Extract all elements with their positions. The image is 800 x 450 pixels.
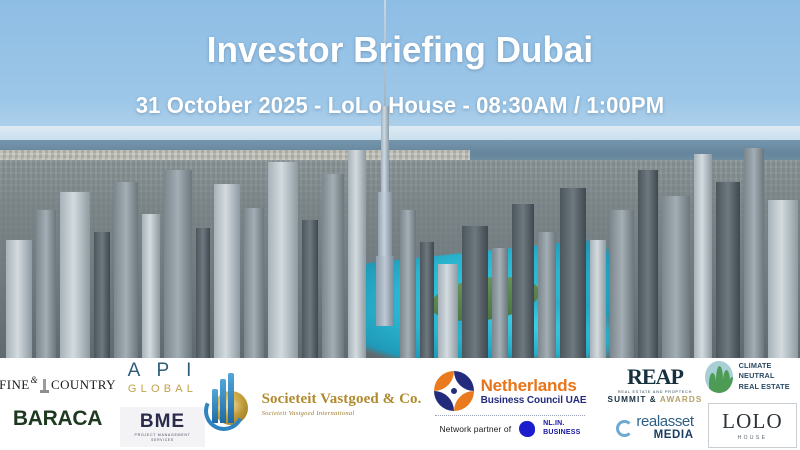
sponsor-column-2: A P I GLOBAL BME PROJECT MANAGEMENT SERV…: [115, 358, 210, 450]
logo-bme[interactable]: BME PROJECT MANAGEMENT SERVICES: [120, 407, 204, 447]
tower: [36, 210, 56, 360]
tower: [462, 226, 488, 360]
tower: [94, 232, 110, 360]
event-details: 31 October 2025 - LoLo House - 08:30AM /…: [16, 92, 784, 119]
baraca-wordmark: BARACA: [13, 407, 102, 431]
nlin-line-1: NL.IN.: [543, 420, 580, 428]
bme-tagline-2: SERVICES: [134, 439, 190, 442]
tower: [142, 214, 160, 360]
tower: [744, 148, 764, 360]
sponsor-column-6: CLIMATE NEUTRAL REAL ESTATE LOLO HOUSE: [705, 358, 800, 450]
dubai-skyline-photo: Investor Briefing Dubai 31 October 2025 …: [0, 0, 800, 360]
tower: [610, 210, 634, 360]
logo-societeit-vastgoed[interactable]: Societeit Vastgoed & Co. Societeit Vastg…: [204, 375, 422, 433]
tower: [560, 188, 586, 360]
tower: [6, 240, 32, 360]
tower: [322, 174, 344, 360]
lolo-text: LOLO: [722, 411, 783, 432]
tower: [348, 150, 366, 360]
tower: [302, 220, 318, 360]
pinwheel-icon: [434, 371, 474, 411]
tower: [214, 184, 240, 360]
sponsor-column-5: REAP REAL ESTATE AND PROPTECH SUMMIT & A…: [605, 358, 705, 450]
bme-text: BME: [134, 412, 190, 431]
nbc-line-2: Business Council UAE: [481, 396, 587, 406]
api-text: A P I: [128, 361, 198, 380]
reap-tagline: REAL ESTATE AND PROPTECH: [608, 390, 703, 394]
tower: [716, 182, 740, 360]
societeit-text: Societeit Vastgoed & Co. Societeit Vastg…: [262, 391, 422, 417]
leaf-blade: [729, 377, 733, 393]
api-global-wordmark: A P I GLOBAL: [128, 361, 198, 395]
leaf-blade: [716, 366, 723, 393]
climate-neutral-lockup: CLIMATE NEUTRAL REAL ESTATE: [705, 361, 800, 393]
bme-tagline-1: PROJECT MANAGEMENT: [134, 434, 190, 438]
logo-realasset-media[interactable]: realasset MEDIA: [616, 414, 693, 442]
tower: [268, 162, 298, 360]
nlin-blob-icon: [519, 421, 535, 437]
tower: [590, 240, 606, 360]
tower: [438, 264, 458, 360]
nlin-line-2: BUSINESS: [543, 429, 580, 437]
cnre-line-2: REAL ESTATE: [739, 382, 800, 393]
country-word: COUNTRY: [51, 377, 116, 393]
nbc-partner-lockup: Network partner of NL.IN. BUSINESS: [439, 420, 580, 436]
leaf-globe-icon: [705, 361, 733, 393]
tower: [196, 228, 210, 360]
media-text: MEDIA: [636, 430, 693, 442]
sponsor-column-4: Netherlands Business Council UAE Network…: [415, 358, 605, 450]
tower: [114, 182, 138, 360]
fine-word: FINE: [0, 377, 30, 393]
network-partner-label: Network partner of: [439, 424, 511, 434]
event-banner: Investor Briefing Dubai 31 October 2025 …: [0, 0, 800, 450]
tower: [164, 170, 192, 360]
nbc-wordmark: Netherlands Business Council UAE: [481, 377, 587, 406]
logo-fine-and-country[interactable]: FINE & COUNTRY: [0, 377, 116, 393]
reap-text: REAP: [608, 366, 703, 388]
nbc-line-1: Netherlands: [481, 377, 587, 394]
tower: [662, 196, 690, 360]
leaf-blade: [709, 373, 716, 393]
logo-reap[interactable]: REAP REAL ESTATE AND PROPTECH SUMMIT & A…: [608, 366, 703, 404]
c-ring-icon: [616, 420, 633, 437]
fine-and-country-wordmark: FINE & COUNTRY: [0, 377, 116, 393]
tower: [420, 242, 434, 360]
nlin-wordmark: NL.IN. BUSINESS: [543, 420, 580, 436]
ampersand: &: [31, 375, 38, 385]
tower: [538, 232, 556, 360]
logo-netherlands-business-council[interactable]: Netherlands Business Council UAE Network…: [434, 371, 587, 436]
societeit-globe-icon: [204, 375, 256, 433]
tower: [60, 192, 90, 360]
tower: [694, 154, 712, 360]
tower: [244, 208, 264, 360]
reap-summit-text: SUMMIT &: [608, 395, 657, 404]
logo-api-global[interactable]: A P I GLOBAL: [128, 361, 198, 395]
sponsor-logo-bar: FINE & COUNTRY BARACA A P I GLOBAL BM: [0, 358, 800, 450]
global-text: GLOBAL: [128, 384, 198, 395]
societeit-lockup: Societeit Vastgoed & Co. Societeit Vastg…: [204, 375, 422, 433]
realasset-text: realasset: [636, 414, 693, 429]
tower: [768, 200, 798, 360]
tower: [492, 248, 508, 360]
tower: [512, 204, 534, 360]
realasset-wordmark: realasset MEDIA: [636, 414, 693, 442]
reap-awards-text: AWARDS: [660, 395, 703, 404]
tower: [400, 210, 416, 360]
house-text: HOUSE: [722, 436, 783, 441]
logo-climate-neutral-real-estate[interactable]: CLIMATE NEUTRAL REAL ESTATE: [705, 361, 800, 393]
reap-subtitle: SUMMIT & AWARDS: [608, 396, 703, 404]
societeit-name: Societeit Vastgoed & Co.: [262, 391, 422, 408]
climate-neutral-text: CLIMATE NEUTRAL REAL ESTATE: [739, 361, 800, 393]
pillar-icon: [40, 377, 49, 393]
page-title: Investor Briefing Dubai: [12, 30, 788, 70]
societeit-tagline: Societeit Vastgoed International: [262, 410, 422, 417]
nbc-divider: [435, 415, 585, 416]
logo-baraca[interactable]: BARACA: [13, 407, 102, 431]
logo-lolo-house[interactable]: LOLO HOUSE: [708, 403, 797, 448]
realasset-lockup: realasset MEDIA: [616, 414, 693, 442]
sponsor-column-3: Societeit Vastgoed & Co. Societeit Vastg…: [210, 358, 415, 450]
lolo-wordmark: LOLO HOUSE: [708, 403, 797, 448]
bme-wordmark: BME PROJECT MANAGEMENT SERVICES: [120, 407, 204, 447]
cnre-line-1: CLIMATE NEUTRAL: [739, 361, 800, 382]
tower: [638, 170, 658, 360]
reap-wordmark: REAP REAL ESTATE AND PROPTECH SUMMIT & A…: [608, 366, 703, 404]
nbc-primary-lockup: Netherlands Business Council UAE: [434, 371, 587, 411]
burj-base: [376, 256, 394, 326]
sponsor-column-1: FINE & COUNTRY BARACA: [0, 358, 115, 450]
